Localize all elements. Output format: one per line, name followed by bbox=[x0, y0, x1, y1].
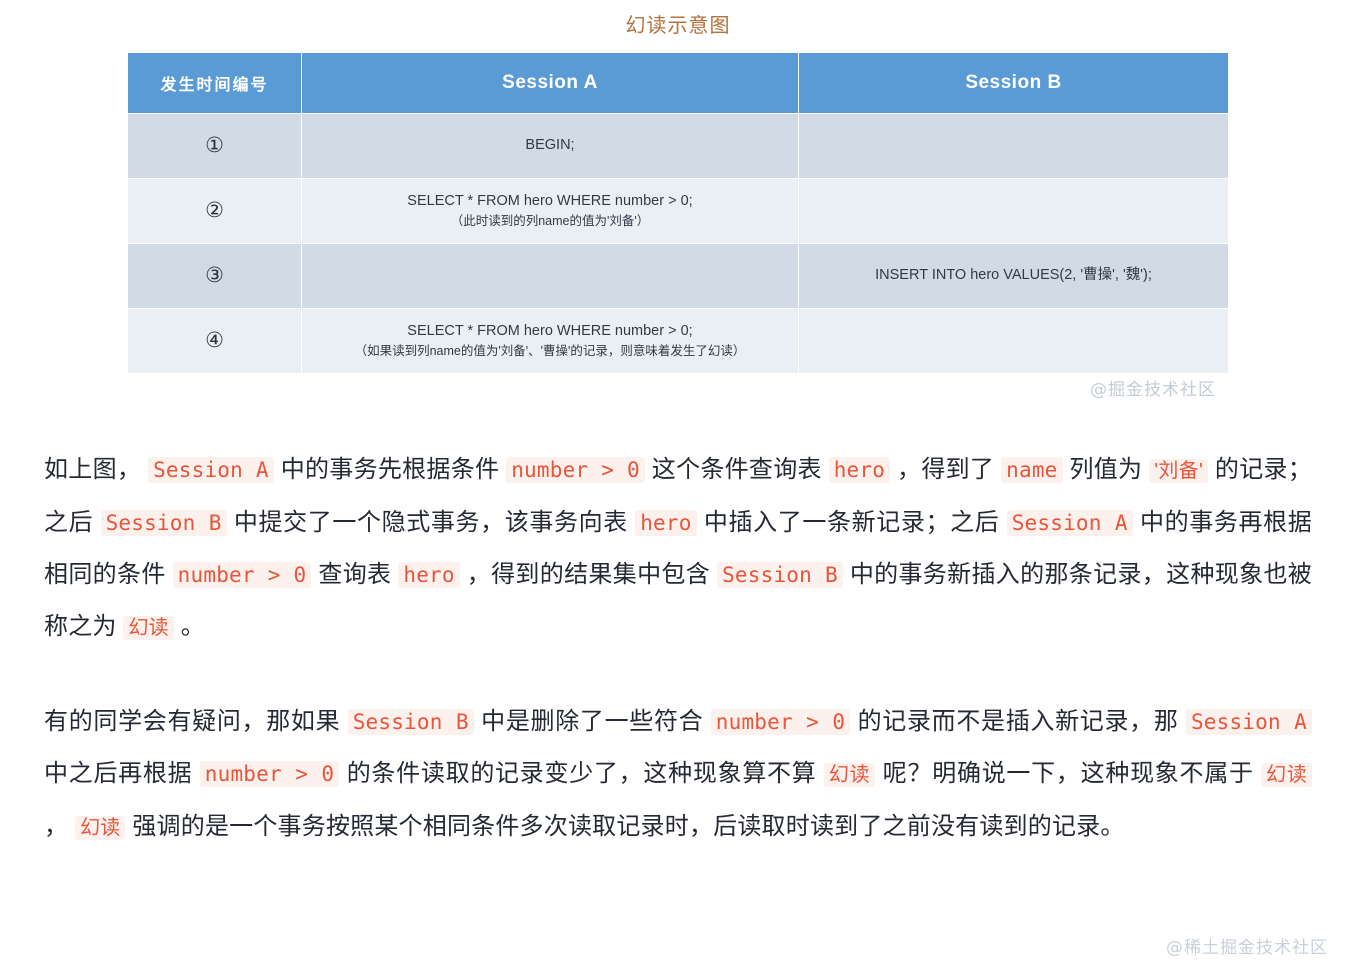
cell-session-a: SELECT * FROM hero WHERE number > 0; （此时… bbox=[302, 179, 799, 244]
code-session-a: Session A bbox=[1007, 510, 1133, 536]
text-run: 中的事务先根据条件 bbox=[281, 456, 500, 483]
cell-session-a-main: SELECT * FROM hero WHERE number > 0; bbox=[302, 191, 798, 212]
table-row: ④ SELECT * FROM hero WHERE number > 0; （… bbox=[128, 309, 1229, 374]
text-run: ，得到的结果集中包含 bbox=[467, 561, 710, 588]
paragraph-1: 如上图， Session A 中的事务先根据条件 number > 0 这个条件… bbox=[44, 444, 1312, 654]
code-table-hero: hero bbox=[829, 457, 890, 483]
article-content: 如上图， Session A 中的事务先根据条件 number > 0 这个条件… bbox=[28, 444, 1328, 854]
text-run: 这个条件查询表 bbox=[652, 456, 822, 483]
figure-watermark: @掘金技术社区 bbox=[1090, 375, 1216, 400]
column-header-time-no: 发生时间编号 bbox=[128, 53, 302, 114]
text-run: 中插入了一条新记录；之后 bbox=[704, 509, 1000, 536]
code-phantom-read: 幻读 bbox=[1261, 763, 1312, 787]
code-session-a: Session A bbox=[1186, 709, 1312, 735]
text-run: 中之后再根据 bbox=[44, 760, 192, 787]
cell-time-no: ① bbox=[128, 114, 302, 179]
text-run: 呢？明确说一下，这种现象不属于 bbox=[883, 760, 1254, 787]
table-body: ① BEGIN; ② SELECT * FROM hero WHERE numb… bbox=[128, 114, 1229, 374]
text-run: 列值为 bbox=[1069, 456, 1142, 483]
cell-session-a-note: （此时读到的列name的值为'刘备'） bbox=[302, 212, 798, 230]
text-run: ，得到了 bbox=[897, 456, 994, 483]
code-session-b: Session B bbox=[348, 709, 474, 735]
cell-session-b bbox=[799, 309, 1229, 374]
circle-number: ① bbox=[205, 133, 224, 157]
cell-time-no: ② bbox=[128, 179, 302, 244]
circle-number: ② bbox=[205, 198, 224, 222]
column-header-session-b: Session B bbox=[799, 53, 1229, 114]
code-number-condition: number > 0 bbox=[711, 709, 850, 735]
cell-time-no: ③ bbox=[128, 244, 302, 309]
text-run: 查询表 bbox=[318, 561, 391, 588]
cell-session-b: INSERT INTO hero VALUES(2, '曹操', '魏'); bbox=[799, 244, 1229, 309]
table-row: ③ INSERT INTO hero VALUES(2, '曹操', '魏'); bbox=[128, 244, 1229, 309]
phantom-read-table: 发生时间编号 Session A Session B ① BEGIN; ② bbox=[127, 52, 1229, 374]
cell-session-a: SELECT * FROM hero WHERE number > 0; （如果… bbox=[302, 309, 799, 374]
text-run: ， bbox=[44, 813, 68, 840]
code-table-hero: hero bbox=[398, 562, 459, 588]
cell-session-b bbox=[799, 114, 1229, 179]
figure-title: 幻读示意图 bbox=[0, 12, 1356, 40]
text-run: 。 bbox=[181, 613, 205, 640]
text-run: 强调的是一个事务按照某个相同条件多次读取记录时，后读取时读到了之前没有读到的记录… bbox=[132, 813, 1124, 840]
code-number-condition: number > 0 bbox=[506, 457, 645, 483]
text-run: 的条件读取的记录变少了，这种现象算不算 bbox=[347, 760, 817, 787]
figure-block: 幻读示意图 发生时间编号 Session A Session B ① BEGIN… bbox=[0, 0, 1356, 374]
column-header-session-a: Session A bbox=[302, 53, 799, 114]
table-row: ② SELECT * FROM hero WHERE number > 0; （… bbox=[128, 179, 1229, 244]
cell-session-a: BEGIN; bbox=[302, 114, 799, 179]
cell-session-a-main: SELECT * FROM hero WHERE number > 0; bbox=[302, 321, 798, 342]
circle-number: ③ bbox=[205, 263, 224, 287]
code-column-name: name bbox=[1001, 457, 1062, 483]
code-session-a: Session A bbox=[148, 457, 274, 483]
table-row: ① BEGIN; bbox=[128, 114, 1229, 179]
circle-number: ④ bbox=[205, 328, 224, 352]
cell-time-no: ④ bbox=[128, 309, 302, 374]
text-run: 中是删除了一些符合 bbox=[481, 708, 703, 735]
paragraph-2: 有的同学会有疑问，那如果 Session B 中是删除了一些符合 number … bbox=[44, 696, 1312, 854]
cell-session-b bbox=[799, 179, 1229, 244]
code-phantom-read: 幻读 bbox=[75, 816, 125, 840]
code-session-b: Session B bbox=[717, 562, 843, 588]
code-phantom-read: 幻读 bbox=[123, 616, 173, 640]
text-run: 如上图， bbox=[44, 456, 141, 483]
text-run: 有的同学会有疑问，那如果 bbox=[44, 708, 340, 735]
cell-session-b-main: INSERT INTO hero VALUES(2, '曹操', '魏'); bbox=[799, 265, 1228, 286]
code-number-condition: number > 0 bbox=[173, 562, 312, 588]
text-run: 的记录而不是插入新记录，那 bbox=[858, 708, 1179, 735]
text-run: 中提交了一个隐式事务，该事务向表 bbox=[234, 509, 628, 536]
code-value-liubei: '刘备' bbox=[1149, 459, 1208, 483]
cell-session-a-note: （如果读到列name的值为'刘备'、'曹操'的记录，则意味着发生了幻读） bbox=[302, 342, 798, 360]
cell-session-a-main: BEGIN; bbox=[302, 135, 798, 156]
cell-session-a bbox=[302, 244, 799, 309]
code-number-condition: number > 0 bbox=[200, 761, 340, 787]
code-table-hero: hero bbox=[635, 510, 696, 536]
table-header: 发生时间编号 Session A Session B bbox=[128, 53, 1229, 114]
table-header-row: 发生时间编号 Session A Session B bbox=[128, 53, 1229, 114]
code-phantom-read: 幻读 bbox=[824, 763, 875, 787]
code-session-b: Session B bbox=[101, 510, 227, 536]
page-watermark: @稀土掘金技术社区 bbox=[1166, 933, 1328, 958]
